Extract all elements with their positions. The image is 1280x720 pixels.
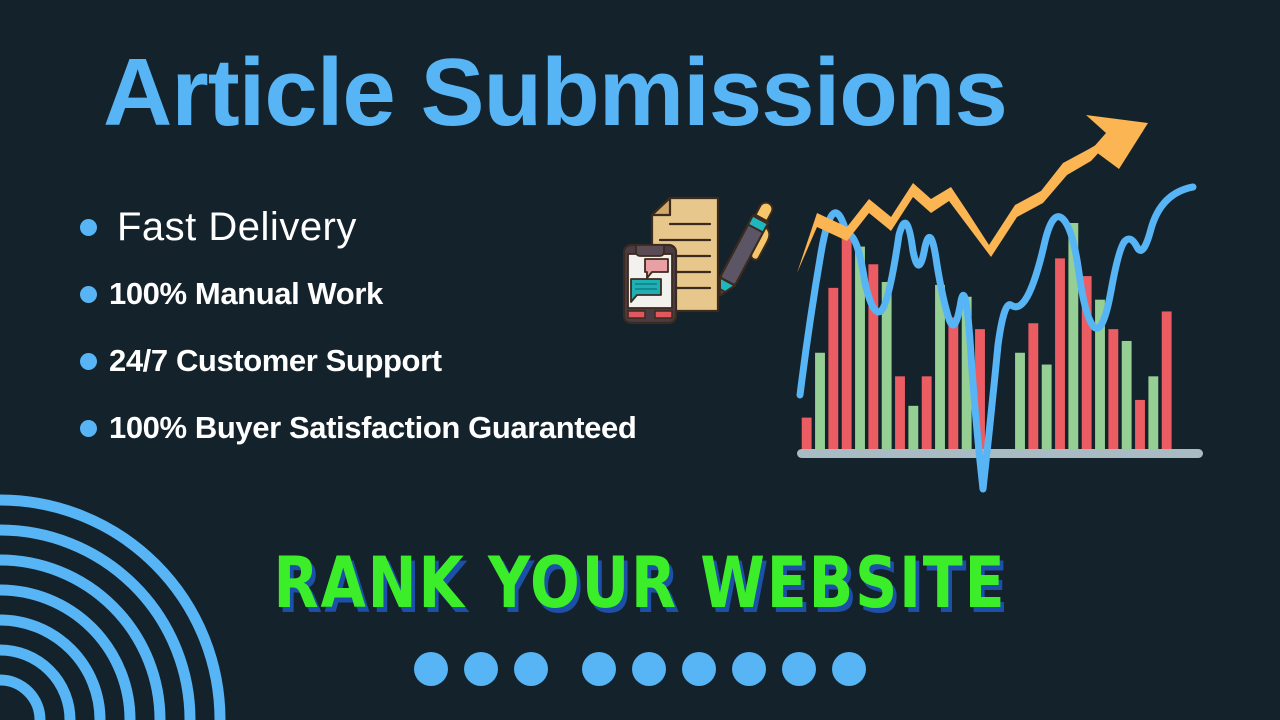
chart-bar bbox=[1055, 258, 1065, 453]
chart-bar bbox=[1162, 311, 1172, 453]
bullet-dot-icon bbox=[80, 286, 97, 303]
tagline-heading: RANK YOUR WEBSITE bbox=[45, 548, 1235, 618]
pager-dot[interactable] bbox=[464, 652, 498, 686]
pager-dot[interactable] bbox=[514, 652, 548, 686]
list-item: 24/7 Customer Support bbox=[80, 343, 780, 379]
list-item-label: 100% Buyer Satisfaction Guaranteed bbox=[109, 410, 636, 446]
pager-dot[interactable] bbox=[782, 652, 816, 686]
list-item: 100% Buyer Satisfaction Guaranteed bbox=[80, 410, 780, 446]
chart-bar bbox=[922, 376, 932, 453]
bullet-dot-icon bbox=[80, 219, 97, 236]
chart-bar bbox=[842, 229, 852, 453]
chart-bar bbox=[1028, 323, 1038, 453]
list-item-label: Fast Delivery bbox=[109, 205, 357, 250]
chart-bar bbox=[1135, 400, 1145, 453]
chart-bar bbox=[1015, 353, 1025, 453]
chart-baseline bbox=[797, 449, 1203, 458]
list-item-label: 24/7 Customer Support bbox=[109, 343, 442, 379]
smartphone-chat-icon bbox=[624, 245, 676, 323]
bullet-dot-icon bbox=[80, 420, 97, 437]
article-writing-icon bbox=[614, 193, 779, 338]
chart-bar bbox=[1042, 365, 1052, 453]
chart-bar bbox=[1148, 376, 1158, 453]
pager-dots bbox=[0, 652, 1280, 686]
chart-bar bbox=[1108, 329, 1118, 453]
trend-arrowhead-icon bbox=[1086, 115, 1148, 169]
chart-bar bbox=[828, 288, 838, 453]
pager-dot[interactable] bbox=[682, 652, 716, 686]
poster-canvas: Article Submissions Fast Delivery 100% M… bbox=[0, 0, 1280, 720]
pen-icon bbox=[712, 199, 779, 303]
chart-bar bbox=[895, 376, 905, 453]
pager-dot[interactable] bbox=[582, 652, 616, 686]
chart-bar bbox=[908, 406, 918, 453]
pager-dot[interactable] bbox=[632, 652, 666, 686]
bullet-dot-icon bbox=[80, 353, 97, 370]
chart-bar bbox=[1122, 341, 1132, 453]
analytics-graphic bbox=[795, 105, 1205, 495]
chart-bar bbox=[815, 353, 825, 453]
pager-dot[interactable] bbox=[732, 652, 766, 686]
chart-bar bbox=[802, 418, 812, 453]
chart-bar bbox=[948, 317, 958, 453]
pager-dot[interactable] bbox=[414, 652, 448, 686]
pager-dot[interactable] bbox=[832, 652, 866, 686]
list-item-label: 100% Manual Work bbox=[109, 276, 383, 312]
